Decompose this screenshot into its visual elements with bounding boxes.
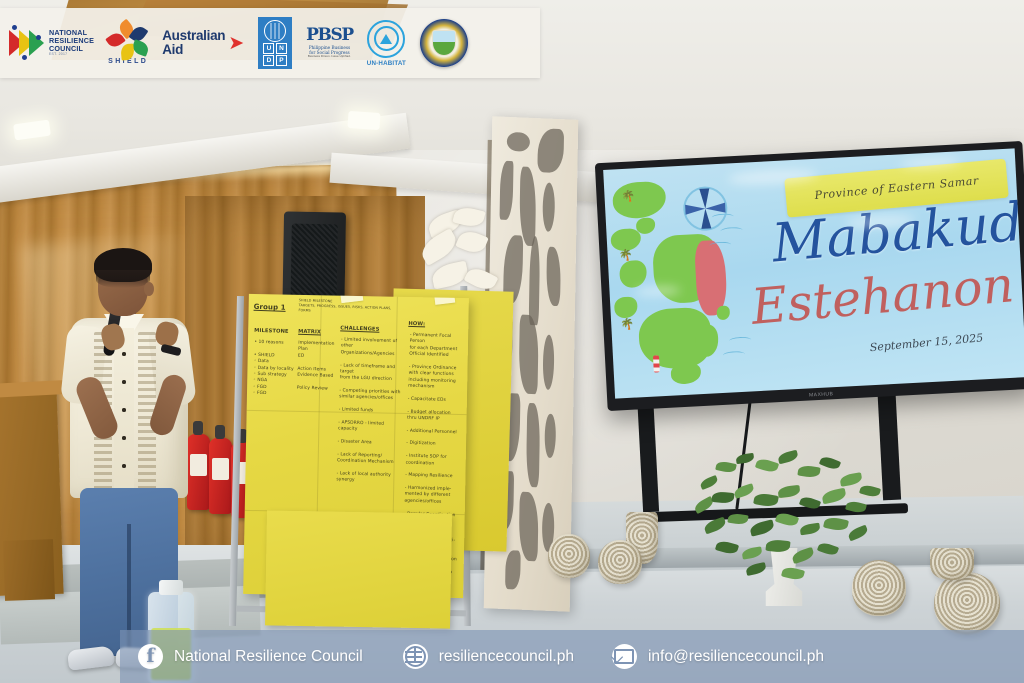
undp-letter-u: U — [263, 43, 274, 54]
rattan-basket — [598, 540, 642, 584]
display-screen: 🌴 🌴 🌴 Province of Eastern Samar Mabakud … — [603, 148, 1024, 398]
shield-petals-icon — [109, 22, 147, 56]
facebook-icon: f — [138, 644, 163, 669]
logo-shield: SHIELD — [108, 22, 148, 65]
un-emblem-icon — [264, 20, 286, 42]
contact-footer: f National Resilience Council resilience… — [120, 630, 1024, 683]
footer-facebook-label: National Resilience Council — [174, 648, 363, 666]
flipchart-col-heading-milestone: MILESTONE — [254, 328, 289, 337]
hair-fade — [96, 270, 150, 288]
footer-email-label: info@resiliencecouncil.ph — [648, 648, 824, 666]
flipchart-sheet-lower — [265, 510, 452, 628]
australian-aid-line2: Aid — [162, 43, 225, 57]
logo-pbsp: PBSP Philippine Business for Social Prog… — [306, 27, 353, 59]
shoe-left — [67, 645, 115, 670]
pbsp-acronym: PBSP — [306, 27, 353, 44]
flipchart-col-body-challenges: - Limited involvement of other Organizat… — [336, 337, 403, 486]
compass-rose-icon — [682, 186, 728, 232]
flipchart-col-body-milestone: • 10 reasons • SHIELD ◦ Data ◦ Data by l… — [253, 340, 299, 399]
undp-letter-p: P — [276, 55, 287, 66]
ear — [144, 282, 154, 296]
provincial-seal-shield — [432, 30, 456, 56]
flipchart-col-heading-challenges: CHALLENGES — [340, 325, 379, 334]
flipchart-col-heading-matrix: MATRIX — [298, 329, 321, 337]
kangaroo-icon: ➤ — [228, 34, 244, 53]
footer-website[interactable]: resiliencecouncil.ph — [403, 644, 574, 669]
wooden-bench-leg — [3, 539, 55, 601]
rattan-basket — [852, 560, 906, 616]
palm-icon: 🌴 — [621, 191, 635, 203]
footer-facebook[interactable]: f National Resilience Council — [138, 644, 363, 669]
flipchart-col-body-matrix: Implementation Plan ED Action Items Evid… — [297, 341, 339, 393]
undp-letter-n: N — [276, 43, 287, 54]
envelope-icon — [612, 644, 637, 669]
ceiling-downlight — [347, 111, 380, 130]
australian-aid-wordmark: Australian Aid — [162, 29, 225, 57]
bottle-cap — [159, 580, 183, 595]
wall-display[interactable]: 🌴 🌴 🌴 Province of Eastern Samar Mabakud … — [595, 141, 1024, 411]
potted-greenery — [690, 452, 890, 582]
footer-email[interactable]: info@resiliencecouncil.ph — [612, 644, 824, 669]
logo-un-habitat: UN-HABITAT — [367, 20, 406, 67]
pbsp-tagline: Business Driven. Issue Uplifted. — [308, 56, 351, 59]
undp-letters-row2: D P — [263, 55, 287, 66]
lighthouse-icon — [653, 355, 660, 372]
nrc-wordmark: NATIONAL RESILIENCE COUNCIL EST. 2017 — [49, 29, 94, 57]
globe-icon — [403, 644, 428, 669]
flipchart-header-left: Group 1 — [253, 302, 285, 313]
nrc-triangles-icon — [14, 30, 44, 56]
un-habitat-emblem-icon — [367, 20, 405, 58]
event-photo-screenshot: 🌴 🌴 🌴 Province of Eastern Samar Mabakud … — [0, 0, 1024, 683]
footer-website-label: resiliencecouncil.ph — [439, 648, 574, 666]
flipchart-col-heading-how: HOW: — [408, 321, 425, 329]
display-brand-label: MAXHUB — [809, 391, 834, 398]
rattan-basket — [930, 548, 974, 580]
rattan-basket — [548, 534, 590, 578]
undp-letter-d: D — [263, 55, 274, 66]
logo-undp: U N D P — [258, 17, 292, 69]
palm-icon: 🌴 — [621, 320, 635, 332]
nrc-established: EST. 2017 — [49, 53, 94, 57]
undp-letters-row1: U N — [263, 43, 287, 54]
australian-aid-line1: Australian — [162, 29, 225, 43]
palm-icon: 🌴 — [619, 251, 633, 263]
pbsp-subtitle: Philippine Business for Social Progress — [309, 45, 350, 56]
un-habitat-wordmark: UN-HABITAT — [367, 60, 406, 67]
provincial-seal-icon — [420, 19, 468, 67]
slide-date: September 15, 2025 — [869, 332, 983, 355]
logo-australian-aid: Australian Aid ➤ — [162, 29, 244, 57]
logo-national-resilience-council: NATIONAL RESILIENCE COUNCIL EST. 2017 — [14, 29, 94, 57]
rattan-basket — [934, 572, 1000, 634]
partner-logo-bar: NATIONAL RESILIENCE COUNCIL EST. 2017 SH… — [0, 8, 540, 78]
